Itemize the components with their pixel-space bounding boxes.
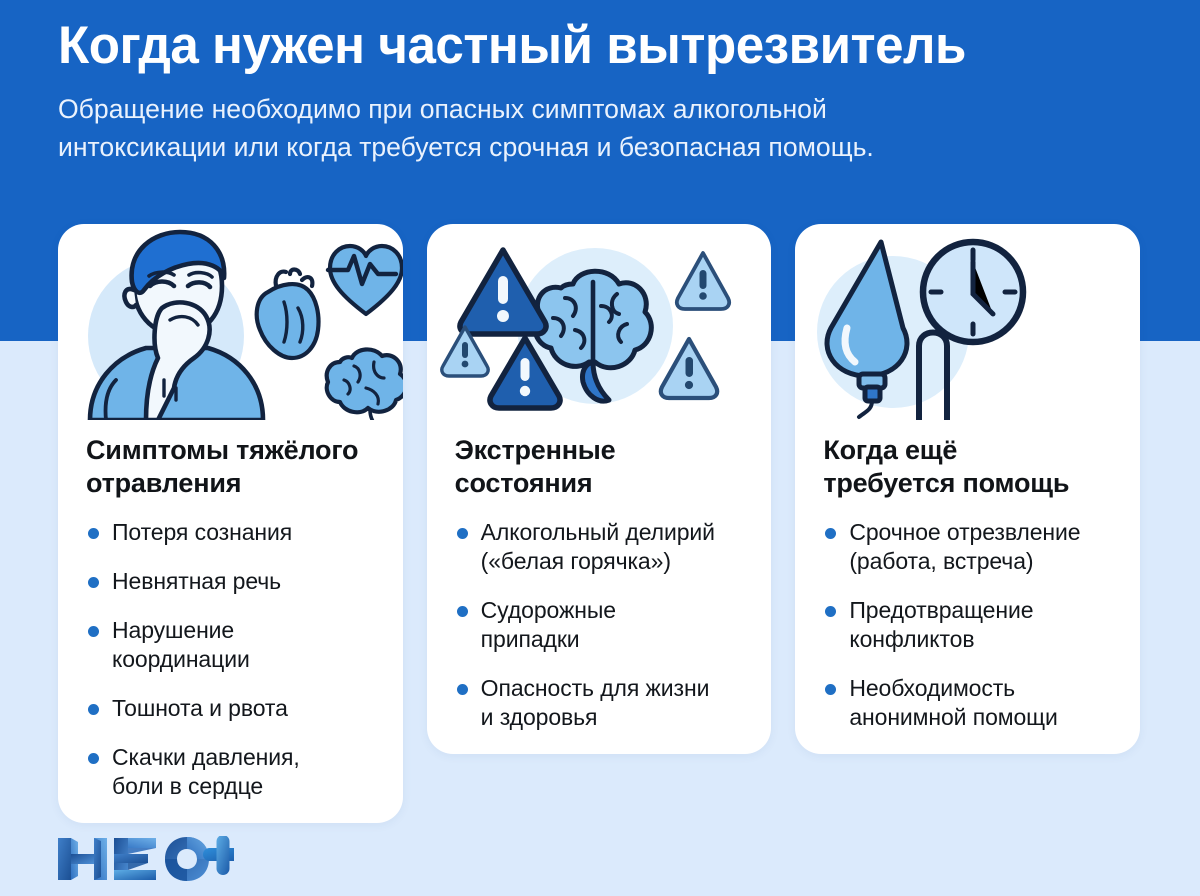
list-item-line: Предотвращение — [849, 596, 1114, 625]
card-body-other-help: Когда ещё требуется помощь Срочное отрез… — [795, 434, 1140, 732]
list-item-line: Алкогольный делирий — [481, 518, 746, 547]
card-body-severe-poisoning: Симптомы тяжёлого отравления Потеря созн… — [58, 434, 403, 801]
bullet-dot-icon — [88, 528, 99, 539]
card-row: Симптомы тяжёлого отравления Потеря созн… — [58, 224, 1140, 823]
list-item-line: Потеря сознания — [112, 518, 377, 547]
list-item: Скачки давления,боли в сердце — [86, 743, 377, 801]
bullet-dot-icon — [88, 704, 99, 715]
list-item-line: Нарушение — [112, 616, 377, 645]
bullet-list-severe-poisoning: Потеря сознания Невнятная речь Нарушение… — [86, 518, 377, 801]
page-title: Когда нужен частный вытрезвитель — [58, 16, 1110, 76]
neo-plus-logo-icon — [58, 836, 234, 882]
list-item: Нарушениекоординации — [86, 616, 377, 674]
bullet-dot-icon — [457, 684, 468, 695]
bullet-dot-icon — [457, 606, 468, 617]
infographic-poster: Когда нужен частный вытрезвитель Обращен… — [0, 0, 1200, 896]
card-title-line: Экстренные — [455, 434, 746, 467]
list-item: Опасность для жизнии здоровья — [455, 674, 746, 732]
bullet-dot-icon — [88, 753, 99, 764]
card-title-emergency-states: Экстренные состояния — [455, 434, 746, 500]
bullet-dot-icon — [88, 577, 99, 588]
brand-logo — [58, 836, 234, 882]
list-item-line: и здоровья — [481, 703, 746, 732]
heartbeat-icon — [330, 246, 402, 314]
card-title-line: Когда ещё — [823, 434, 1114, 467]
card-body-emergency-states: Экстренные состояния Алкогольный делирий… — [427, 434, 772, 732]
list-item-line: Невнятная речь — [112, 567, 377, 596]
brain-icon — [327, 349, 403, 412]
list-item: Необходимостьанонимной помощи — [823, 674, 1114, 732]
logo-plus-icon — [203, 836, 234, 875]
card-emergency-states: Экстренные состояния Алкогольный делирий… — [427, 224, 772, 754]
header-content: Когда нужен частный вытрезвитель Обращен… — [58, 16, 1148, 166]
list-item-line: конфликтов — [849, 625, 1114, 654]
bullet-dot-icon — [825, 528, 836, 539]
card-title-line: состояния — [455, 467, 746, 500]
page-subtitle-line-1: Обращение необходимо при опасных симптом… — [58, 90, 1073, 128]
warning-triangle-icon — [677, 253, 729, 309]
card-title-line: Симптомы тяжёлого — [86, 434, 377, 467]
card-title-line: требуется помощь — [823, 467, 1114, 500]
illustration-brain-warning-triangles — [427, 224, 772, 420]
list-item-line: Опасность для жизни — [481, 674, 746, 703]
list-item-line: боли в сердце — [112, 772, 377, 801]
page-subtitle-line-2: интоксикации или когда требуется срочная… — [58, 128, 1073, 166]
list-item-line: Необходимость — [849, 674, 1114, 703]
list-item-line: координации — [112, 645, 377, 674]
bullet-dot-icon — [88, 626, 99, 637]
list-item-line: анонимной помощи — [849, 703, 1114, 732]
bullet-dot-icon — [825, 684, 836, 695]
list-item: Предотвращениеконфликтов — [823, 596, 1114, 654]
bullet-dot-icon — [825, 606, 836, 617]
list-item-line: Срочное отрезвление — [849, 518, 1114, 547]
page-subtitle: Обращение необходимо при опасных симптом… — [58, 90, 1073, 166]
list-item-line: Судорожные — [481, 596, 746, 625]
card-title-line: отравления — [86, 467, 377, 500]
card-title-other-help: Когда ещё требуется помощь — [823, 434, 1114, 500]
list-item-line: Скачки давления, — [112, 743, 377, 772]
list-item-line: Тошнота и рвота — [112, 694, 377, 723]
bullet-list-emergency-states: Алкогольный делирий(«белая горячка») Суд… — [455, 518, 746, 732]
list-item-line: (работа, встреча) — [849, 547, 1114, 576]
list-item: Алкогольный делирий(«белая горячка») — [455, 518, 746, 576]
logo-letter-e — [114, 838, 156, 880]
card-severe-poisoning: Симптомы тяжёлого отравления Потеря созн… — [58, 224, 403, 823]
list-item: Тошнота и рвота — [86, 694, 377, 723]
card-other-help: Когда ещё требуется помощь Срочное отрез… — [795, 224, 1140, 754]
list-item-line: («белая горячка») — [481, 547, 746, 576]
list-item: Невнятная речь — [86, 567, 377, 596]
clock-icon — [923, 242, 1023, 342]
illustration-man-nausea-heart-brain — [58, 224, 403, 420]
card-title-severe-poisoning: Симптомы тяжёлого отравления — [86, 434, 377, 500]
list-item: Потеря сознания — [86, 518, 377, 547]
list-item: Срочное отрезвление(работа, встреча) — [823, 518, 1114, 576]
logo-letter-o — [165, 837, 209, 881]
bullet-list-other-help: Срочное отрезвление(работа, встреча) Пре… — [823, 518, 1114, 732]
list-item-line: припадки — [481, 625, 746, 654]
bullet-dot-icon — [457, 528, 468, 539]
illustration-iv-drip-clock-stand — [795, 224, 1140, 420]
logo-letter-n — [58, 838, 107, 880]
list-item: Судорожныеприпадки — [455, 596, 746, 654]
